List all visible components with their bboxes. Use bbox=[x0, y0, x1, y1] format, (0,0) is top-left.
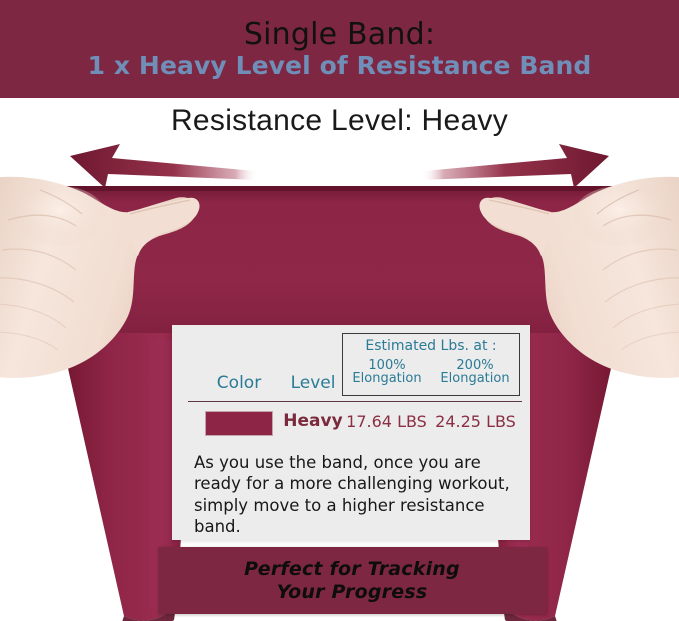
elongation-100-percent: 100% bbox=[343, 359, 431, 373]
header-banner: Single Band: 1 x Heavy Level of Resistan… bbox=[0, 0, 679, 98]
cell-elongation-200: 24.25 LBS bbox=[431, 412, 520, 431]
column-header-level: Level bbox=[282, 373, 344, 393]
table-divider bbox=[188, 401, 522, 402]
cell-elongation-100: 17.64 LBS bbox=[342, 412, 431, 431]
column-header-color: Color bbox=[196, 373, 282, 393]
header-title-primary: Single Band: bbox=[244, 19, 435, 51]
specs-panel: Estimated Lbs. at : 100% Elongation 200%… bbox=[172, 325, 530, 540]
bottom-banner-line2: Your Progress bbox=[277, 581, 428, 603]
bottom-banner: Perfect for Tracking Your Progress bbox=[158, 547, 546, 614]
table-row: Heavy 17.64 LBS 24.25 LBS bbox=[172, 409, 530, 439]
header-title-secondary: 1 x Heavy Level of Resistance Band bbox=[88, 52, 592, 80]
bottom-banner-line1: Perfect for Tracking bbox=[244, 558, 460, 580]
cell-level: Heavy bbox=[282, 411, 344, 431]
panel-note-text: As you use the band, once you are ready … bbox=[194, 452, 512, 538]
table-header-row: Color Level bbox=[172, 373, 530, 399]
estimated-lbs-title: Estimated Lbs. at : bbox=[343, 339, 519, 354]
color-swatch bbox=[205, 411, 273, 436]
elongation-200-percent: 200% bbox=[431, 359, 519, 373]
resistance-level-title: Resistance Level: Heavy bbox=[0, 104, 679, 138]
infographic-canvas: Single Band: 1 x Heavy Level of Resistan… bbox=[0, 0, 679, 621]
